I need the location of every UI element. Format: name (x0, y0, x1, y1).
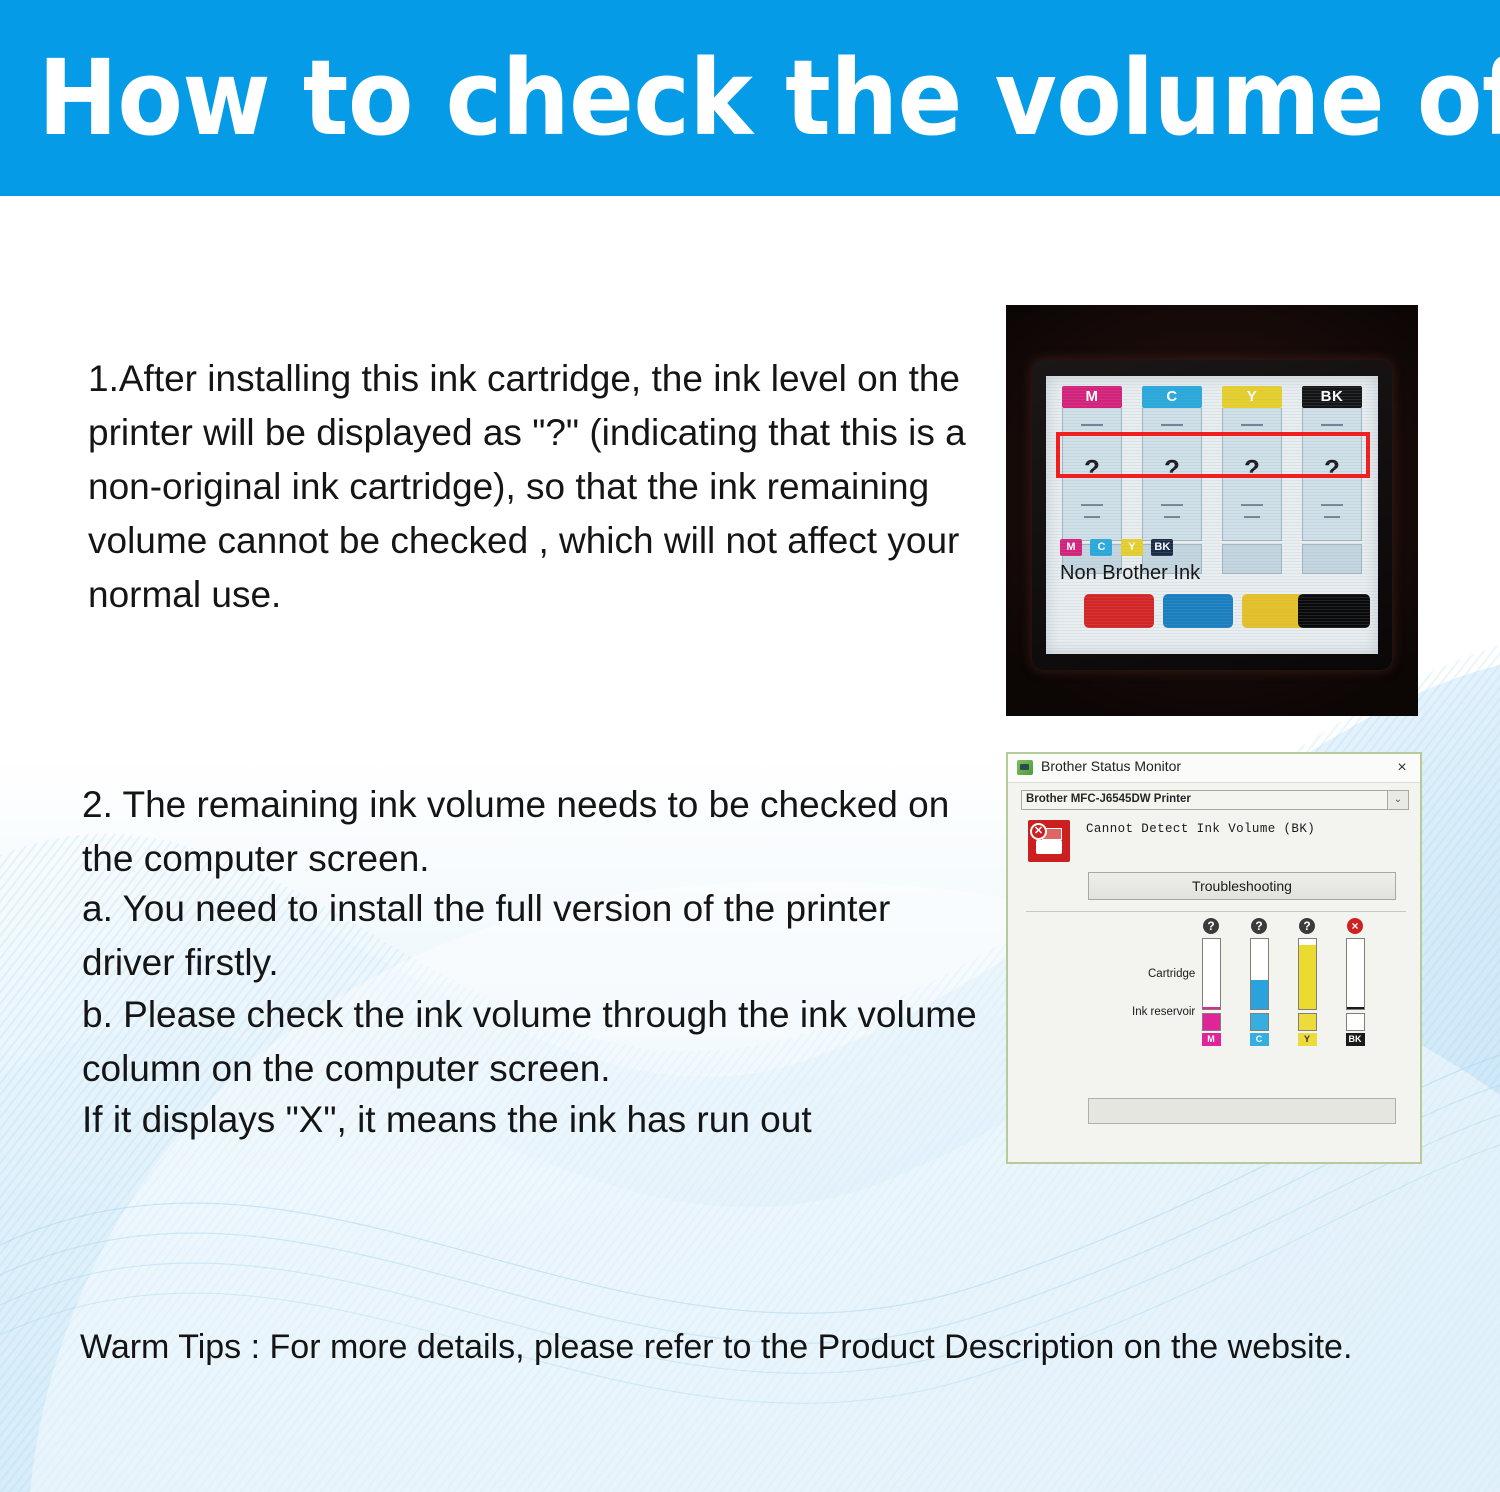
color-tag-m: M (1202, 1033, 1221, 1046)
cartridge-tube-bk (1346, 938, 1365, 1010)
page-title: How to check the volume of ink (38, 44, 1500, 152)
status-icon-c: ? (1251, 918, 1267, 934)
error-message: Cannot Detect Ink Volume (BK) (1086, 822, 1315, 836)
lcd-chip-y: Y (1121, 539, 1143, 556)
red-highlight-box (1056, 432, 1370, 478)
color-tag-bk: BK (1346, 1033, 1365, 1046)
lcd-caption-non-brother-ink: Non Brother Ink (1060, 562, 1200, 585)
cartridge-row-label: Cartridge (1148, 968, 1195, 980)
lcd-chip-bk: BK (1151, 539, 1173, 556)
instruction-paragraph-2: 2. The remaining ink volume needs to be … (82, 778, 982, 886)
lcd-ink-column-y: Y ? (1222, 386, 1282, 574)
ink-reservoir-row-label: Ink reservoir (1132, 1006, 1195, 1018)
reservoir-box-m (1202, 1013, 1221, 1031)
troubleshooting-button[interactable]: Troubleshooting (1088, 872, 1396, 900)
printer-select-dropdown[interactable]: Brother MFC-J6545DW Printer ⌄ (1021, 790, 1409, 810)
reservoir-box-bk (1346, 1013, 1365, 1031)
printer-lcd-photo: M ? C ? (1006, 305, 1418, 716)
ink-column-bk: × BK (1342, 918, 1368, 1046)
lcd-chip-c: C (1090, 539, 1112, 556)
status-icon-bk: × (1347, 918, 1363, 934)
instruction-paragraph-b: b. Please check the ink volume through t… (82, 988, 982, 1096)
lcd-color-chip-row: M C Y BK (1060, 539, 1177, 557)
color-tag-y: Y (1298, 1033, 1317, 1046)
status-icon-y: ? (1299, 918, 1315, 934)
ink-levels-area: Cartridge Ink reservoir ? M ? C ? Y (1008, 912, 1420, 1032)
lcd-button-1[interactable] (1084, 594, 1154, 628)
warm-tips-note: Warm Tips : For more details, please ref… (80, 1325, 1470, 1369)
window-title-bar: Brother Status Monitor × (1008, 754, 1420, 783)
chevron-down-icon[interactable]: ⌄ (1387, 791, 1408, 809)
instruction-paragraph-1: 1.After installing this ink cartridge, t… (88, 352, 968, 622)
brother-status-monitor-window: Brother Status Monitor × Brother MFC-J65… (1006, 752, 1422, 1164)
printer-error-icon: ✕ (1028, 820, 1070, 862)
ink-column-y: ? Y (1294, 918, 1320, 1046)
lcd-ink-foot-bk (1302, 544, 1362, 574)
reservoir-box-c (1250, 1013, 1269, 1031)
lcd-ink-column-bk: BK ? (1302, 386, 1362, 574)
lcd-button-4[interactable] (1298, 594, 1370, 628)
ink-column-m: ? M (1198, 918, 1224, 1046)
lcd-ink-foot-y (1222, 544, 1282, 574)
printer-select-value: Brother MFC-J6545DW Printer (1026, 793, 1191, 805)
lcd-chip-m: M (1060, 539, 1082, 556)
ink-column-c: ? C (1246, 918, 1272, 1046)
lcd-bezel: M ? C ? (1032, 360, 1392, 670)
lcd-ink-label-m: M (1062, 386, 1122, 408)
lcd-ink-label-bk: BK (1302, 386, 1362, 408)
window-title: Brother Status Monitor (1041, 758, 1181, 774)
error-x-badge: ✕ (1030, 823, 1047, 840)
color-tag-c: C (1250, 1033, 1269, 1046)
lcd-ink-label-c: C (1142, 386, 1202, 408)
reservoir-box-y (1298, 1013, 1317, 1031)
header-banner: How to check the volume of ink (0, 0, 1500, 196)
cartridge-tube-c (1250, 938, 1269, 1010)
lcd-ink-label-y: Y (1222, 386, 1282, 408)
brother-app-icon (1017, 760, 1033, 775)
status-icon-m: ? (1203, 918, 1219, 934)
instruction-paragraph-a: a. You need to install the full version … (82, 882, 982, 990)
close-icon[interactable]: × (1392, 758, 1412, 778)
lcd-button-2[interactable] (1163, 594, 1233, 628)
lcd-screen: M ? C ? (1046, 376, 1378, 654)
instruction-paragraph-x: If it displays "X", it means the ink has… (82, 1093, 982, 1147)
cartridge-tube-m (1202, 938, 1221, 1010)
status-progress-bar (1088, 1098, 1396, 1124)
cartridge-tube-y (1298, 938, 1317, 1010)
